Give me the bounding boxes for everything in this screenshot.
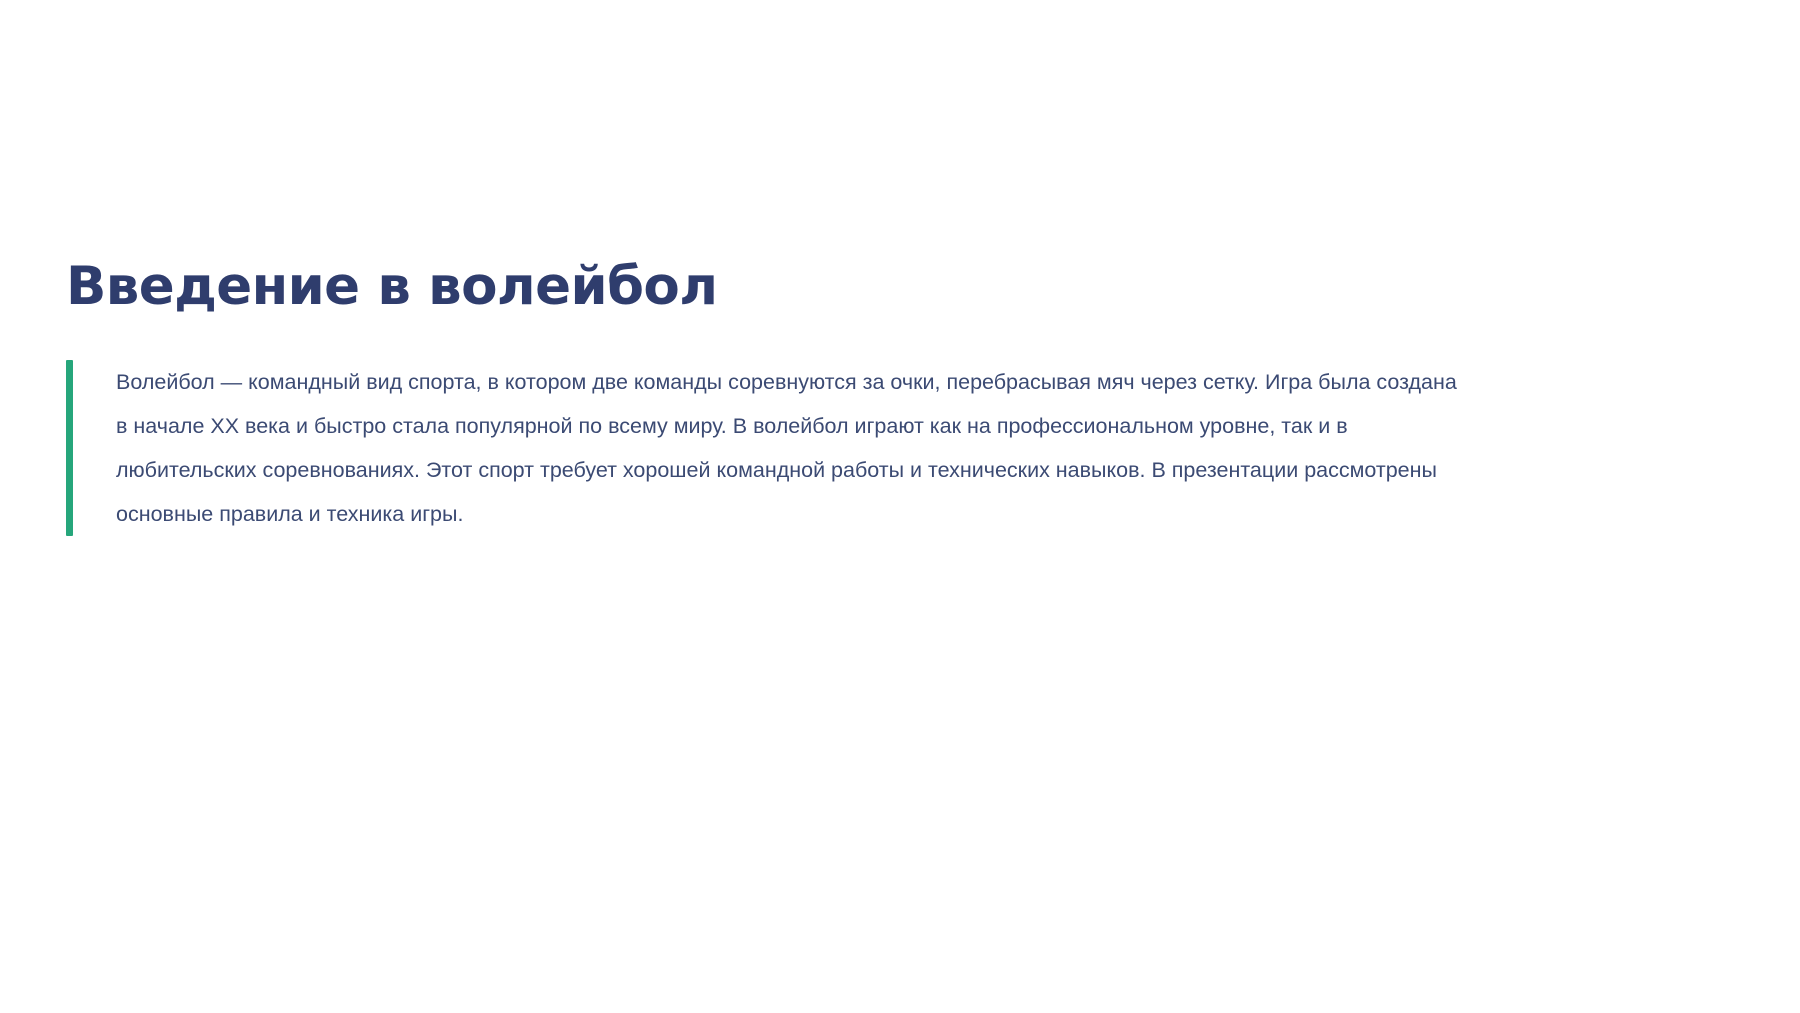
presentation-slide: Введение в волейбол Волейбол — командный… bbox=[0, 0, 1800, 1013]
accent-bar bbox=[66, 360, 73, 536]
page-title: Введение в волейбол bbox=[66, 258, 1466, 315]
body-paragraph: Волейбол — командный вид спорта, в котор… bbox=[116, 360, 1461, 536]
body-paragraph-block: Волейбол — командный вид спорта, в котор… bbox=[66, 360, 1466, 536]
slide-content: Введение в волейбол Волейбол — командный… bbox=[66, 258, 1466, 536]
